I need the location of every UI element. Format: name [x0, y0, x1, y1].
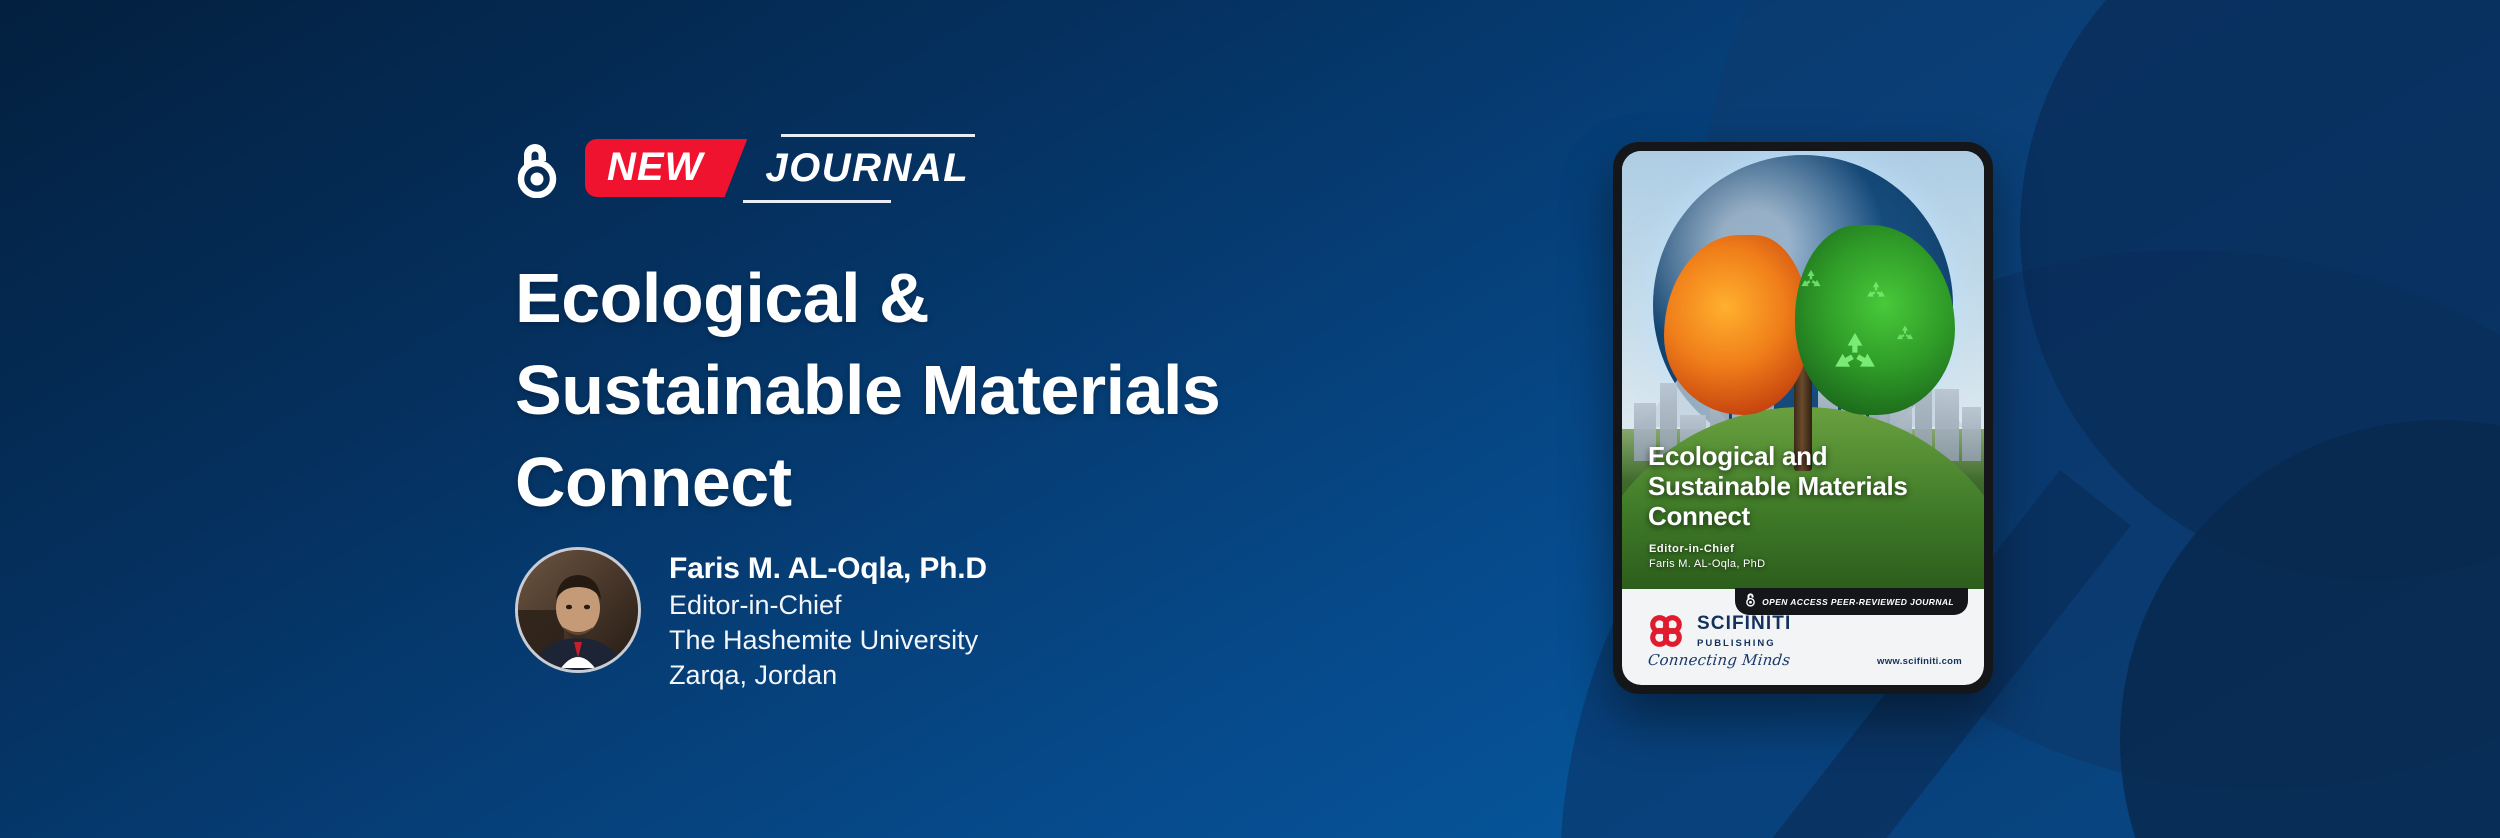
cover-title: Ecological and Sustainable Materials Con…	[1648, 441, 1964, 531]
editor-role: Editor-in-Chief	[669, 588, 987, 623]
journal-cover-mockup: Ecological and Sustainable Materials Con…	[1613, 142, 1993, 694]
cover-title-line-1: Ecological and	[1648, 441, 1964, 471]
new-journal-lockup: NEW JOURNAL	[515, 138, 975, 198]
journal-label: JOURNAL	[765, 147, 969, 189]
new-badge: NEW	[585, 139, 747, 197]
editor-location: Zarqa, Jordan	[669, 658, 987, 693]
journal-title-line-3: Connect	[515, 436, 1415, 528]
publisher-name-block: SCIFINITI PUBLISHING	[1697, 614, 1791, 649]
cover-editor-role: Editor-in-Chief	[1649, 543, 1765, 555]
journal-word-wrap: JOURNAL	[759, 147, 975, 189]
recycle-symbol-icon	[1828, 327, 1882, 381]
publisher-logo: SCIFINITI PUBLISHING	[1646, 611, 1791, 651]
editor-name: Faris M. AL-Oqla, Ph.D	[669, 551, 987, 588]
publisher-tagline: Connecting Minds	[1647, 651, 1791, 669]
publisher-url: www.scifiniti.com	[1877, 656, 1962, 667]
editor-institution: The Hashemite University	[669, 623, 987, 658]
cover-title-line-3: Connect	[1648, 501, 1964, 531]
open-access-lock-icon	[515, 138, 559, 198]
watermark-circle-dark	[2020, 0, 2500, 580]
journal-rule-top	[781, 134, 975, 137]
journal-cover: Ecological and Sustainable Materials Con…	[1622, 151, 1984, 685]
journal-title: Ecological & Sustainable Materials Conne…	[515, 252, 1415, 528]
publisher-name: SCIFINITI	[1697, 613, 1791, 634]
cover-editor-name: Faris M. AL-Oqla, PhD	[1649, 558, 1765, 570]
editor-details: Faris M. AL-Oqla, Ph.D Editor-in-Chief T…	[669, 547, 987, 693]
journal-rule-bottom	[743, 200, 891, 203]
avatar	[515, 547, 641, 673]
watermark-circle-right	[2120, 420, 2500, 838]
scifiniti-knot-icon	[1646, 611, 1686, 651]
editor-in-chief-block: Faris M. AL-Oqla, Ph.D Editor-in-Chief T…	[515, 547, 987, 693]
cover-editor-block: Editor-in-Chief Faris M. AL-Oqla, PhD	[1649, 543, 1765, 570]
publisher-subtitle: PUBLISHING	[1697, 638, 1791, 649]
recycle-symbol-icon-small-2	[1864, 279, 1888, 303]
recycle-symbol-icon-small	[1798, 267, 1824, 293]
journal-title-line-2: Sustainable Materials	[515, 344, 1415, 436]
journal-title-line-1: Ecological &	[515, 252, 1415, 344]
banner-content: NEW JOURNAL Ecological & Sustainable Mat…	[515, 0, 1495, 838]
cover-title-line-2: Sustainable Materials	[1648, 471, 1964, 501]
open-access-badge-text: OPEN ACCESS PEER-REVIEWED JOURNAL	[1762, 597, 1954, 607]
open-access-lock-icon-small	[1745, 592, 1756, 612]
journal-announcement-banner: NEW JOURNAL Ecological & Sustainable Mat…	[0, 0, 2500, 838]
cover-footer: OPEN ACCESS PEER-REVIEWED JOURNAL	[1622, 589, 1984, 685]
recycle-symbol-icon-small-3	[1894, 323, 1916, 345]
